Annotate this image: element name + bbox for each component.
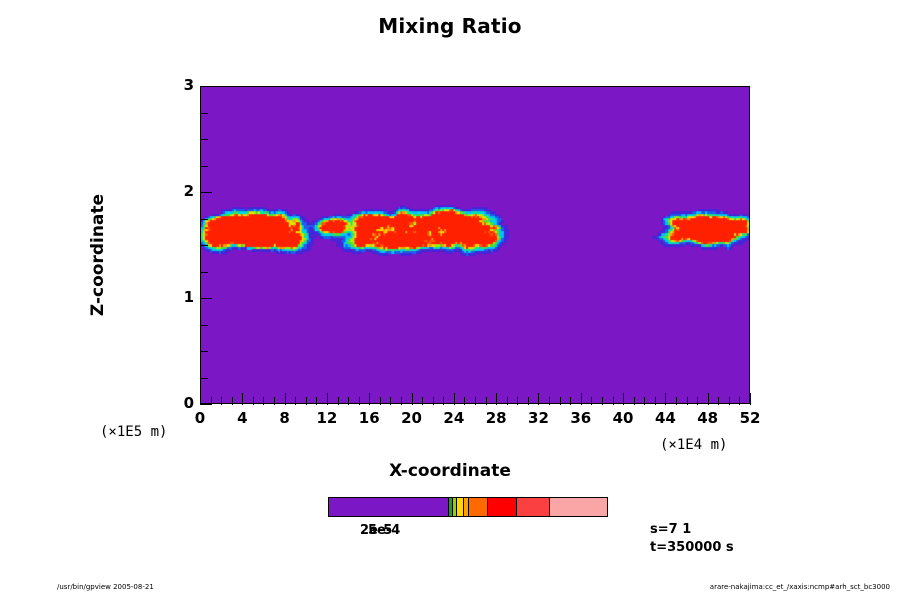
y-tick xyxy=(200,298,212,299)
x-tick xyxy=(665,393,666,405)
colorbar-segment-6 xyxy=(487,498,516,516)
x-tick xyxy=(613,397,614,405)
x-tick xyxy=(464,397,465,405)
x-tick xyxy=(263,397,264,405)
x-tick-label: 48 xyxy=(688,409,728,427)
x-tick xyxy=(232,397,233,405)
x-tick xyxy=(517,397,518,405)
x-tick xyxy=(253,397,254,405)
x-tick-label: 28 xyxy=(476,409,516,427)
x-tick xyxy=(433,397,434,405)
y-tick xyxy=(200,166,208,167)
x-tick xyxy=(454,393,455,405)
x-tick xyxy=(327,393,328,405)
x-tick xyxy=(729,397,730,405)
x-tick-label: 4 xyxy=(222,409,262,427)
x-tick xyxy=(560,397,561,405)
x-tick xyxy=(295,397,296,405)
x-tick-label: 20 xyxy=(392,409,432,427)
x-tick xyxy=(486,397,487,405)
page-title: Mixing Ratio xyxy=(0,14,900,38)
x-tick xyxy=(412,393,413,405)
x-tick xyxy=(390,397,391,405)
x-tick-label: 8 xyxy=(265,409,305,427)
x-tick xyxy=(274,397,275,405)
sigma-annotation: s=7 1 xyxy=(650,522,691,537)
colorbar-segment-0 xyxy=(329,498,448,516)
footer-dataset: arare-nakajima:cc_et_/xaxis:ncmp#arh_sct… xyxy=(710,583,890,591)
footer-command: /usr/bin/gpview 2005-08-21 xyxy=(57,583,154,591)
x-tick-label: 36 xyxy=(561,409,601,427)
x-tick xyxy=(602,397,603,405)
x-tick xyxy=(570,397,571,405)
y-axis-unit: (×1E5 m) xyxy=(100,424,167,440)
y-tick xyxy=(200,404,212,405)
x-tick xyxy=(718,397,719,405)
y-axis-title: Z-coordinate xyxy=(88,155,108,355)
x-tick-label: 44 xyxy=(645,409,685,427)
x-axis-unit: (×1E4 m) xyxy=(660,437,727,453)
y-tick xyxy=(200,192,212,193)
x-tick xyxy=(242,393,243,405)
y-tick xyxy=(200,272,208,273)
x-tick-label: 40 xyxy=(603,409,643,427)
x-tick xyxy=(581,393,582,405)
x-tick xyxy=(549,397,550,405)
y-tick-label: 3 xyxy=(160,76,194,94)
x-tick xyxy=(380,397,381,405)
x-tick xyxy=(221,397,222,405)
x-axis-title: X-coordinate xyxy=(0,461,900,481)
x-tick xyxy=(306,397,307,405)
y-tick xyxy=(200,219,208,220)
x-tick xyxy=(316,397,317,405)
x-tick xyxy=(528,397,529,405)
y-tick xyxy=(200,378,208,379)
x-tick xyxy=(739,397,740,405)
x-tick xyxy=(644,397,645,405)
x-tick-label: 12 xyxy=(307,409,347,427)
x-tick xyxy=(422,397,423,405)
x-tick xyxy=(708,393,709,405)
y-tick xyxy=(200,325,208,326)
colorbar-segment-5 xyxy=(468,498,487,516)
x-tick xyxy=(496,393,497,405)
y-tick xyxy=(200,113,208,114)
x-tick xyxy=(697,397,698,405)
x-tick xyxy=(623,393,624,405)
x-tick xyxy=(475,397,476,405)
x-tick xyxy=(401,397,402,405)
plot-area xyxy=(200,86,750,404)
x-tick xyxy=(359,397,360,405)
y-tick xyxy=(200,351,208,352)
y-tick-label: 1 xyxy=(160,288,194,306)
x-tick-label: 0 xyxy=(180,409,220,427)
x-tick xyxy=(285,393,286,405)
x-tick xyxy=(591,397,592,405)
x-tick-label: 32 xyxy=(518,409,558,427)
x-tick xyxy=(443,397,444,405)
y-tick xyxy=(200,139,208,140)
x-tick xyxy=(750,393,751,405)
colorbar-label-high: 5e-4 xyxy=(368,523,400,538)
colorbar xyxy=(328,497,608,517)
x-tick-label: 16 xyxy=(349,409,389,427)
x-tick-label: 52 xyxy=(730,409,770,427)
x-tick xyxy=(634,397,635,405)
x-tick-label: 24 xyxy=(434,409,474,427)
colorbar-segment-7 xyxy=(516,498,549,516)
time-annotation: t=350000 s xyxy=(650,540,734,555)
x-tick xyxy=(687,397,688,405)
y-tick-label: 2 xyxy=(160,182,194,200)
colorbar-segment-8 xyxy=(549,498,607,516)
x-tick xyxy=(338,397,339,405)
x-tick xyxy=(655,397,656,405)
x-tick xyxy=(369,393,370,405)
y-tick xyxy=(200,245,208,246)
x-tick xyxy=(507,397,508,405)
x-tick xyxy=(348,397,349,405)
mixing-ratio-heatmap xyxy=(201,87,749,403)
x-tick xyxy=(676,397,677,405)
y-tick xyxy=(200,86,212,87)
x-tick xyxy=(538,393,539,405)
